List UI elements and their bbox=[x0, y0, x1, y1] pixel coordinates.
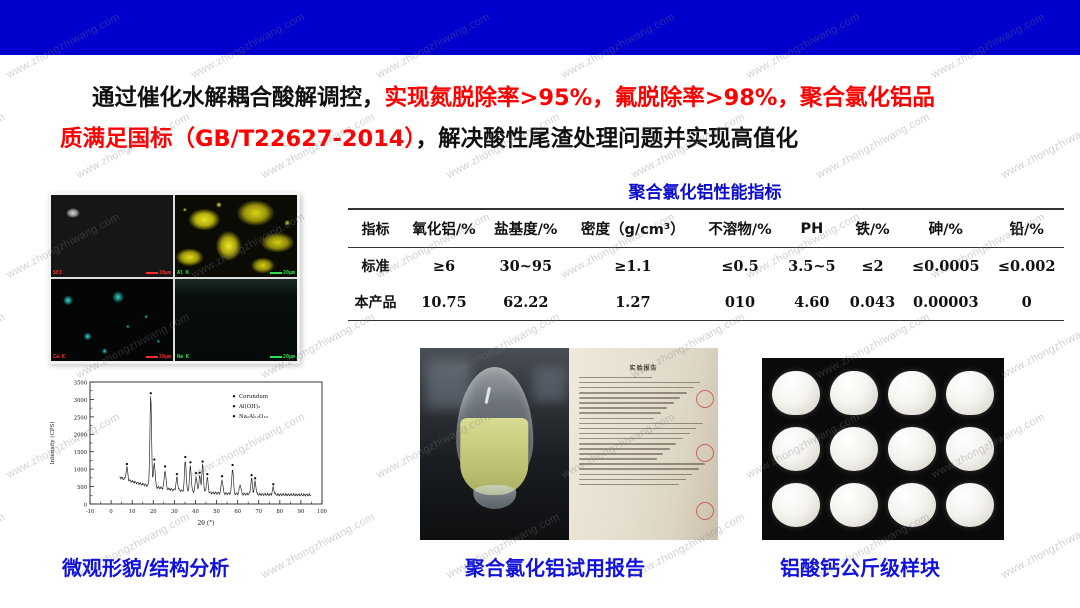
headline-paragraph: 通过催化水解耦合酸解调控，实现氮脱除率>95%，氟脱除率>98%，聚合氯化铝品 … bbox=[60, 78, 1045, 160]
flask-photo bbox=[420, 348, 569, 540]
sem-cell-label: SEI bbox=[53, 270, 62, 276]
scale-bar: 20μm bbox=[270, 354, 295, 360]
report-text-line bbox=[579, 468, 698, 470]
legend-label: Al(OH)₃ bbox=[238, 403, 260, 410]
report-text-line bbox=[579, 479, 685, 481]
report-text-line bbox=[579, 412, 660, 414]
peak-marker bbox=[153, 458, 155, 460]
x-tick-label: 0 bbox=[109, 509, 112, 515]
cell-value: 0 bbox=[989, 284, 1064, 321]
report-text-line bbox=[579, 453, 663, 455]
report-text-line bbox=[579, 387, 693, 389]
caption-calcium-aluminate-samples: 铝酸钙公斤级样块 bbox=[780, 552, 940, 581]
report-text-line bbox=[579, 423, 702, 425]
report-document-scan: 实验报告 bbox=[569, 348, 718, 540]
peak-marker bbox=[195, 472, 197, 474]
pellet-sample bbox=[830, 483, 878, 527]
report-title: 实验报告 bbox=[569, 363, 718, 372]
sem-cell-label: Al K bbox=[177, 270, 189, 276]
table-row: 本产品 10.75 62.22 1.27 010 4.60 0.043 0.00… bbox=[348, 284, 1064, 321]
y-tick-label: 2000 bbox=[74, 433, 87, 439]
peak-marker bbox=[206, 473, 208, 475]
caption-microstructure: 微观形貌/结构分析 bbox=[62, 552, 229, 581]
report-text-line bbox=[579, 382, 700, 384]
table-header-row: 指标 氧化铝/% 盐基度/% 密度（g/cm³） 不溶物/% PH 铁/% 砷/… bbox=[348, 209, 1064, 248]
x-tick-label: 70 bbox=[255, 509, 262, 515]
report-text-line bbox=[579, 392, 687, 394]
flask-base bbox=[473, 485, 516, 509]
cell-value: 3.5~5 bbox=[781, 248, 843, 285]
cell-value: 0.043 bbox=[843, 284, 902, 321]
glass-flask bbox=[456, 367, 533, 509]
legend-marker bbox=[233, 395, 235, 397]
x-tick-label: 90 bbox=[298, 509, 305, 515]
caption-pac-trial-report: 聚合氯化铝试用报告 bbox=[465, 552, 645, 581]
peak-marker bbox=[189, 461, 191, 463]
sem-electron-image: SEI 20μm bbox=[51, 195, 173, 277]
x-tick-label: 50 bbox=[213, 509, 220, 515]
watermark-text: www.zhongzhiwang.com bbox=[0, 111, 7, 181]
peak-marker bbox=[164, 465, 166, 467]
cell-value: 10.75 bbox=[403, 284, 485, 321]
headline-line2-black: ，解决酸性尾渣处理问题并实现高值化 bbox=[416, 126, 799, 152]
title-banner bbox=[0, 0, 1080, 55]
report-text-line bbox=[579, 407, 667, 409]
y-tick-label: 500 bbox=[77, 485, 87, 491]
col-header-alumina: 氧化铝/% bbox=[403, 209, 485, 248]
cell-value: ≤0.0005 bbox=[902, 248, 989, 285]
headline-line1-black: 通过催化水解耦合酸解调控， bbox=[92, 85, 385, 111]
eds-map-sodium: Na K 20μm bbox=[175, 279, 297, 361]
col-header-density: 密度（g/cm³） bbox=[567, 209, 699, 248]
peak-marker bbox=[250, 474, 252, 476]
cell-value: 010 bbox=[699, 284, 781, 321]
eds-map-calcium: Ca K 20μm bbox=[51, 279, 173, 361]
peak-marker bbox=[184, 456, 186, 458]
y-axis-label: Intensity (CPS) bbox=[49, 421, 56, 464]
x-tick-label: 60 bbox=[234, 509, 241, 515]
report-text-line bbox=[579, 458, 656, 460]
red-stamp-icon bbox=[696, 390, 714, 408]
xrd-chart: 0500100015002000250030003500-10010203040… bbox=[44, 372, 334, 540]
report-text-line bbox=[579, 474, 692, 476]
report-text-line bbox=[579, 448, 669, 450]
peak-marker bbox=[150, 392, 152, 394]
cell-value: ≥1.1 bbox=[567, 248, 699, 285]
col-header-lead: 铅/% bbox=[989, 209, 1064, 248]
performance-table-wrapper: 指标 氧化铝/% 盐基度/% 密度（g/cm³） 不溶物/% PH 铁/% 砷/… bbox=[348, 208, 1064, 321]
headline-line2-red: 质满足国标（GB/T22627-2014） bbox=[60, 126, 416, 152]
peak-marker bbox=[126, 463, 128, 465]
pellet-sample bbox=[830, 371, 878, 415]
cell-value: 4.60 bbox=[781, 284, 843, 321]
col-header-iron: 铁/% bbox=[843, 209, 902, 248]
cell-value: ≤2 bbox=[843, 248, 902, 285]
xrd-plot-area: 0500100015002000250030003500-10010203040… bbox=[44, 372, 334, 540]
col-header-arsenic: 砷/% bbox=[902, 209, 989, 248]
peak-marker bbox=[272, 483, 274, 485]
scale-bar: 20μm bbox=[146, 270, 171, 276]
peak-marker bbox=[201, 460, 203, 462]
watermark-text: www.zhongzhiwang.com bbox=[1000, 511, 1080, 581]
report-text-lines bbox=[579, 377, 710, 533]
report-text-line bbox=[579, 397, 680, 399]
legend-marker bbox=[233, 415, 235, 417]
x-tick-label: 100 bbox=[317, 509, 327, 515]
watermark-text: www.zhongzhiwang.com bbox=[1000, 311, 1080, 381]
row-label-standard: 标准 bbox=[348, 248, 403, 285]
y-tick-label: 1000 bbox=[74, 468, 87, 474]
cell-value: 0.00003 bbox=[902, 284, 989, 321]
pellet-sample bbox=[772, 483, 820, 527]
pellet-sample bbox=[946, 427, 994, 471]
y-tick-label: 3000 bbox=[74, 398, 87, 404]
cell-value: 62.22 bbox=[485, 284, 567, 321]
report-text-line bbox=[579, 402, 673, 404]
pellet-sample bbox=[888, 427, 936, 471]
x-tick-label: 80 bbox=[277, 509, 284, 515]
peak-marker bbox=[176, 473, 178, 475]
legend-label: Corundum bbox=[239, 394, 268, 400]
col-header-ph: PH bbox=[781, 209, 843, 248]
calcium-aluminate-pellet-samples bbox=[762, 358, 1004, 540]
pellet-sample bbox=[946, 371, 994, 415]
pellet-sample bbox=[888, 483, 936, 527]
sem-cell-label: Ca K bbox=[53, 354, 65, 360]
report-text-line bbox=[579, 418, 654, 420]
flask-powder-fill bbox=[460, 418, 528, 495]
report-text-line bbox=[579, 438, 683, 440]
cell-value: 30~95 bbox=[485, 248, 567, 285]
report-text-line bbox=[579, 433, 689, 435]
watermark-text: www.zhongzhiwang.com bbox=[0, 311, 7, 381]
peak-marker bbox=[254, 477, 256, 479]
report-text-line bbox=[579, 484, 679, 486]
y-tick-label: 0 bbox=[84, 502, 87, 508]
pellet-sample bbox=[830, 427, 878, 471]
sem-cell-label: Na K bbox=[177, 354, 189, 360]
cell-value: 1.27 bbox=[567, 284, 699, 321]
table-title: 聚合氯化铝性能指标 bbox=[340, 178, 1070, 203]
performance-table: 指标 氧化铝/% 盐基度/% 密度（g/cm³） 不溶物/% PH 铁/% 砷/… bbox=[348, 208, 1064, 321]
pellet-sample bbox=[772, 427, 820, 471]
y-tick-label: 3500 bbox=[74, 380, 87, 386]
y-tick-label: 2500 bbox=[74, 415, 87, 421]
report-text-line bbox=[579, 377, 651, 379]
table-row: 标准 ≥6 30~95 ≥1.1 ≤0.5 3.5~5 ≤2 ≤0.0005 ≤… bbox=[348, 248, 1064, 285]
peak-marker bbox=[221, 475, 223, 477]
col-header-basicity: 盐基度/% bbox=[485, 209, 567, 248]
col-header-indicator: 指标 bbox=[348, 209, 403, 248]
cell-value: ≤0.002 bbox=[989, 248, 1064, 285]
cell-value: ≥6 bbox=[403, 248, 485, 285]
red-stamp-icon bbox=[696, 444, 714, 462]
legend-label: Na₂Al₁₂O₁₉ bbox=[239, 414, 269, 420]
scale-bar: 20μm bbox=[270, 270, 295, 276]
red-stamp-icon bbox=[696, 502, 714, 520]
peak-marker bbox=[199, 472, 201, 474]
x-tick-label: -10 bbox=[86, 509, 94, 515]
watermark-text: www.zhongzhiwang.com bbox=[0, 511, 7, 581]
x-tick-label: 30 bbox=[171, 509, 178, 515]
pellet-sample bbox=[772, 371, 820, 415]
report-text-line bbox=[579, 443, 676, 445]
x-tick-label: 10 bbox=[129, 509, 136, 515]
report-text-line bbox=[579, 463, 705, 465]
scale-bar: 20μm bbox=[146, 354, 171, 360]
slide-root: 技术关键创新点 通过催化水解耦合酸解调控，实现氮脱除率>95%，氟脱除率>98%… bbox=[0, 0, 1080, 608]
col-header-insoluble: 不溶物/% bbox=[699, 209, 781, 248]
y-tick-label: 1500 bbox=[74, 450, 87, 456]
eds-map-aluminium: Al K 20μm bbox=[175, 195, 297, 277]
report-text-line bbox=[579, 428, 696, 430]
x-tick-label: 40 bbox=[192, 509, 199, 515]
polyaluminium-chloride-sample-and-report: 实验报告 bbox=[420, 348, 718, 540]
cell-value: ≤0.5 bbox=[699, 248, 781, 285]
headline-line1-red: 实现氮脱除率>95%，氟脱除率>98%，聚合氯化铝品 bbox=[385, 85, 935, 111]
x-tick-label: 20 bbox=[150, 509, 157, 515]
pellet-sample bbox=[888, 371, 936, 415]
peak-marker bbox=[231, 464, 233, 466]
pellet-grid bbox=[762, 358, 1004, 540]
pellet-sample bbox=[946, 483, 994, 527]
background-blur bbox=[533, 367, 566, 402]
row-label-product: 本产品 bbox=[348, 284, 403, 321]
x-axis-label: 2θ (°) bbox=[197, 520, 214, 527]
legend-marker bbox=[233, 405, 235, 407]
sem-eds-panel: SEI 20μm Al K 20μm Ca K 20μm Na K 20μm bbox=[48, 192, 300, 364]
